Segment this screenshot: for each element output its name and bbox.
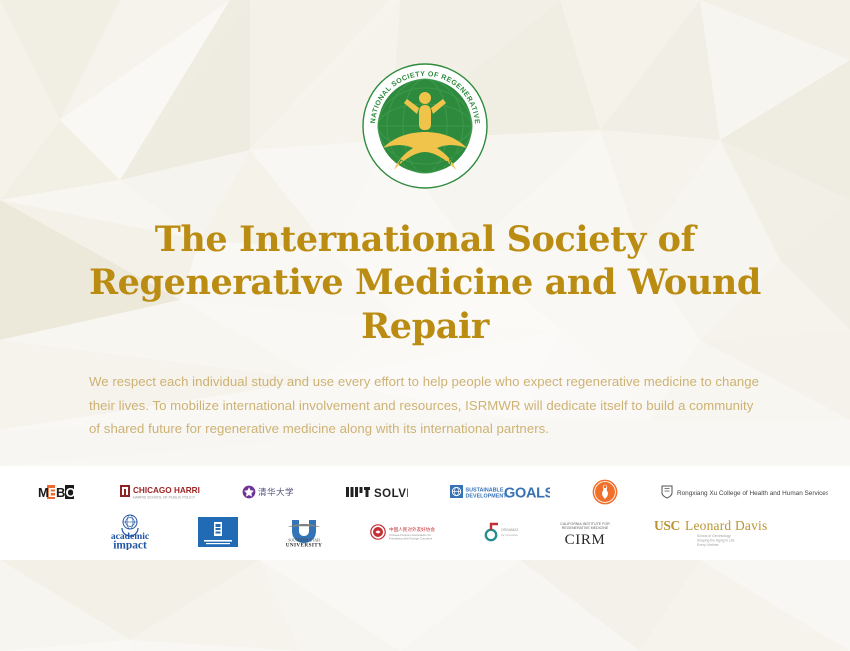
orange-circular-emblem-icon [592, 479, 618, 505]
usc-leonard-davis-icon: USC Leonard Davis School of Gerontology … [652, 516, 774, 548]
svg-text:for innovation: for innovation [501, 533, 518, 537]
svg-text:REGENERATIVE MEDICINE: REGENERATIVE MEDICINE [562, 526, 609, 530]
partner-logo-row-2: academic impact [0, 511, 850, 553]
partner-logo-chicago-harris[interactable]: CHICAGO HARRIS HARRIS SCHOOL OF PUBLIC P… [120, 483, 200, 501]
svg-text:Shaping the Aging in Life: Shaping the Aging in Life [697, 539, 735, 543]
chicago-harris-icon: CHICAGO HARRIS HARRIS SCHOOL OF PUBLIC P… [120, 483, 200, 501]
partner-logo-cirm[interactable]: CALIFORNIA INSTITUTE FOR REGENERATIVE ME… [556, 517, 614, 547]
society-crest-logo: THE INTERNATIONAL SOCIETY OF REGENERATIV… [361, 0, 489, 190]
landing-page: THE INTERNATIONAL SOCIETY OF REGENERATIV… [0, 0, 850, 651]
partner-logo-band: M E B O CHICAGO HARRIS HARRIS SCHOOL OF … [0, 466, 850, 560]
svg-text:Friendship with Foreign Countr: Friendship with Foreign Countries [389, 537, 433, 541]
svg-text:中国人民对外友好协会: 中国人民对外友好协会 [389, 526, 435, 533]
partner-logo-mebo[interactable]: M E B O [38, 484, 78, 500]
partner-logo-usc-leonard-davis[interactable]: USC Leonard Davis School of Gerontology … [652, 516, 774, 548]
cirm-icon: CALIFORNIA INSTITUTE FOR REGENERATIVE ME… [556, 517, 614, 547]
svg-text:HARRIS SCHOOL OF PUBLIC POLICY: HARRIS SCHOOL OF PUBLIC POLICY [133, 496, 196, 500]
partner-logo-southern-utah-university[interactable]: SOUTHERN UTAH UNIVERSITY [276, 516, 332, 548]
svg-text:清华大学: 清华大学 [258, 486, 294, 498]
partner-logo-un-sdg[interactable]: SUSTAINABLE DEVELOPMENT GOALS [450, 482, 550, 502]
crest-icon: THE INTERNATIONAL SOCIETY OF REGENERATIV… [361, 62, 489, 190]
southern-utah-university-icon: SOUTHERN UTAH UNIVERSITY [276, 516, 332, 548]
svg-text:ORGANIZATION: ORGANIZATION [501, 528, 518, 532]
hero-section: THE INTERNATIONAL SOCIETY OF REGENERATIV… [0, 0, 850, 441]
teal-red-organization-mark-icon: ORGANIZATION for innovation [484, 522, 518, 542]
un-sustainable-development-goals-icon: SUSTAINABLE DEVELOPMENT GOALS [450, 482, 550, 502]
partner-logo-mit-solve[interactable]: SOLVE [346, 484, 408, 500]
partner-logo-blue-flag-institute[interactable] [198, 517, 238, 547]
partner-logo-un-academic-impact[interactable]: academic impact [100, 514, 160, 550]
svg-text:O: O [66, 485, 76, 500]
svg-text:Rongxiang Xu College of Health: Rongxiang Xu College of Health and Human… [677, 490, 828, 497]
partner-logo-teal-mark[interactable]: ORGANIZATION for innovation [484, 522, 518, 542]
svg-text:Leonard Davis: Leonard Davis [685, 518, 767, 533]
svg-text:USC: USC [654, 518, 680, 533]
tsinghua-university-icon: 清华大学 [242, 483, 304, 501]
partner-logo-rongxiang-xu[interactable]: Rongxiang Xu College of Health and Human… [660, 484, 828, 500]
page-title: The International Society of Regenerativ… [55, 218, 795, 348]
svg-text:CHICAGO HARRIS: CHICAGO HARRIS [133, 486, 200, 495]
svg-text:SOLVE: SOLVE [374, 488, 408, 500]
svg-text:B: B [56, 485, 65, 500]
svg-text:UNIVERSITY: UNIVERSITY [286, 543, 323, 549]
svg-text:Every Lifetime: Every Lifetime [697, 543, 719, 547]
svg-text:School of Gerontology: School of Gerontology [697, 534, 731, 538]
svg-text:DEVELOPMENT: DEVELOPMENT [466, 494, 508, 500]
partner-logo-china-association[interactable]: 中国人民对外友好协会 Chinese People's Association … [370, 523, 446, 541]
mission-statement: We respect each individual study and use… [89, 370, 761, 441]
mebo-icon: M E B O [38, 484, 78, 500]
svg-text:GOALS: GOALS [504, 486, 550, 502]
partner-logo-orange-emblem[interactable] [592, 479, 618, 505]
china-association-icon: 中国人民对外友好协会 Chinese People's Association … [370, 523, 446, 541]
mit-solve-icon: SOLVE [346, 484, 408, 500]
blue-institutional-emblem-icon [198, 517, 238, 547]
partner-logo-tsinghua[interactable]: 清华大学 [242, 483, 304, 501]
svg-text:CIRM: CIRM [565, 532, 606, 547]
svg-text:impact: impact [113, 540, 147, 551]
rongxiang-xu-college-icon: Rongxiang Xu College of Health and Human… [660, 484, 828, 500]
un-academic-impact-icon: academic impact [100, 514, 160, 550]
partner-logo-row-1: M E B O CHICAGO HARRIS HARRIS SCHOOL OF … [0, 475, 850, 509]
